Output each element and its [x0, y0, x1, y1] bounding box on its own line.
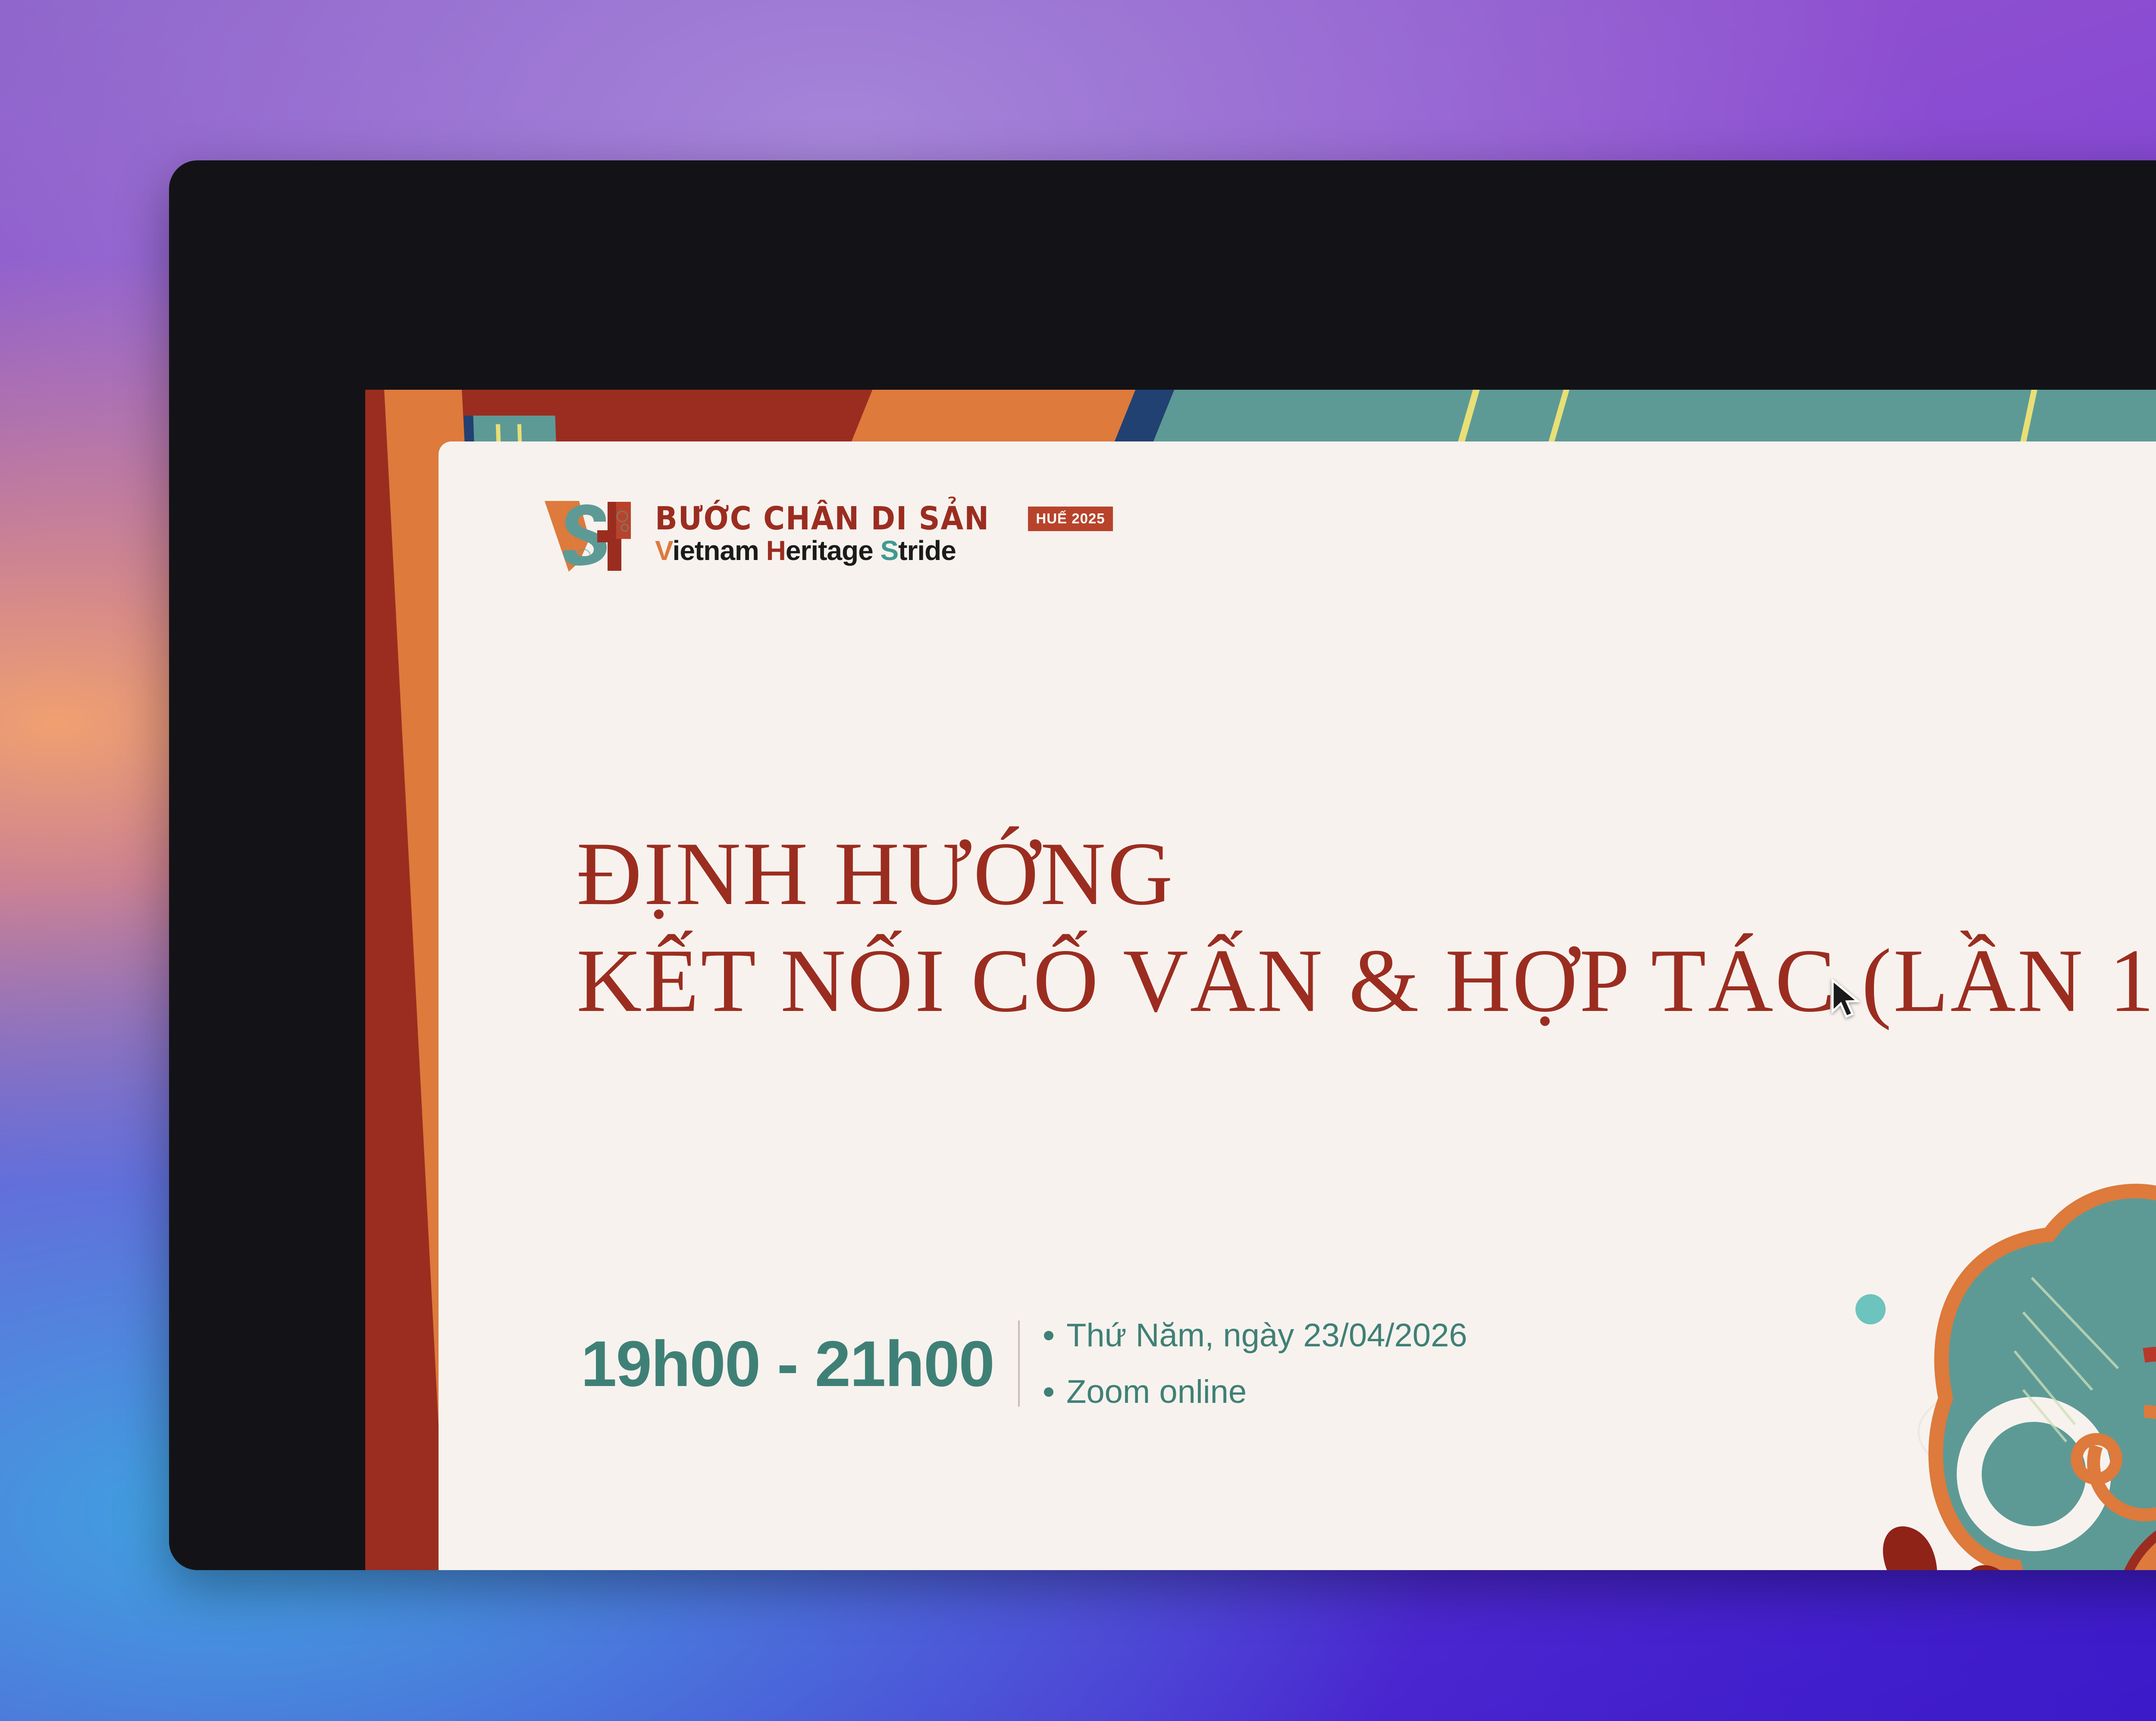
slide-title: ĐỊNH HƯỚNG KẾT NỐI CỐ VẤN & HỢP TÁC (LẦN…	[577, 821, 2156, 1035]
slide-title-line-2: KẾT NỐI CỐ VẤN & HỢP TÁC (LẦN 1)	[577, 928, 2156, 1035]
logo-subtitle: Vietnam Heritage Stride	[655, 536, 1113, 565]
event-date: Thứ Năm, ngày 23/04/2026	[1066, 1317, 1467, 1354]
list-item: Zoom online	[1044, 1373, 1467, 1411]
mouse-cursor-icon	[1830, 979, 1864, 1020]
vsh-monogram-icon	[542, 493, 640, 575]
screen-share-window: BƯỚC CHÂN DI SẢN HUẾ 2025 Vietnam Herita…	[169, 160, 2156, 1570]
organizer-group: ĐƠN VỊ TỔ CHỨC STARTUP	[2051, 497, 2156, 606]
shared-slide-stage[interactable]: BƯỚC CHÂN DI SẢN HUẾ 2025 Vietnam Herita…	[365, 390, 2156, 1570]
vertical-divider	[1018, 1320, 1020, 1407]
slide-title-line-1: ĐỊNH HƯỚNG	[577, 821, 2156, 928]
list-item: Thứ Năm, ngày 23/04/2026	[1044, 1317, 1467, 1354]
logo-year-badge: HUẾ 2025	[1028, 507, 1112, 531]
annotation-dot[interactable]	[1855, 1294, 1886, 1324]
event-platform: Zoom online	[1066, 1373, 1247, 1411]
logo-title: BƯỚC CHÂN DI SẢN	[655, 503, 990, 535]
event-time-row: 19h00 - 21h00 Thứ Năm, ngày 23/04/2026 Z…	[581, 1317, 1467, 1411]
bullet-icon	[1044, 1331, 1053, 1340]
event-detail-list: Thứ Năm, ngày 23/04/2026 Zoom online	[1044, 1317, 1467, 1411]
bullet-icon	[1044, 1387, 1053, 1397]
event-time: 19h00 - 21h00	[581, 1331, 994, 1396]
slide-card: BƯỚC CHÂN DI SẢN HUẾ 2025 Vietnam Herita…	[439, 441, 2156, 1570]
heritage-ornament	[1764, 1011, 2156, 1570]
event-logo: BƯỚC CHÂN DI SẢN HUẾ 2025 Vietnam Herita…	[542, 493, 1113, 575]
organizer-label: ĐƠN VỊ TỔ CHỨC	[2051, 497, 2156, 513]
